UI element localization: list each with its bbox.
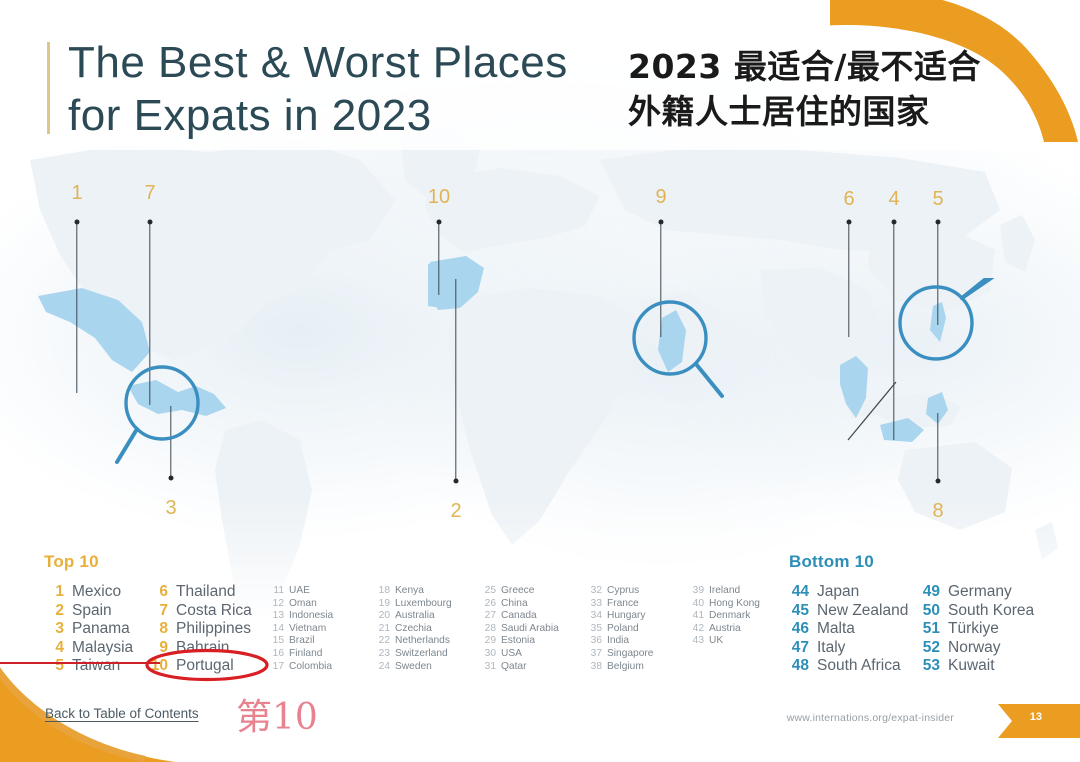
rank-column-18-24: 18Kenya19Luxembourg20Australia21Czechia2… (376, 585, 452, 673)
rank-country: Greece (501, 585, 534, 596)
rank-country: Finland (289, 648, 322, 659)
rank-row: 39Ireland (690, 585, 760, 598)
rank-number: 38 (588, 661, 602, 672)
rank-number: 33 (588, 598, 602, 609)
rank-row: 3Panama (44, 620, 133, 639)
top10-heading: Top 10 (44, 552, 99, 572)
map-marker-label: 2 (450, 500, 461, 523)
rank-number: 46 (789, 620, 809, 638)
map-marker-leader-line (660, 222, 661, 337)
rank-country: France (607, 598, 639, 609)
rank-country: Estonia (501, 635, 535, 646)
rank-number: 13 (270, 610, 284, 621)
map-marker-dot (847, 220, 852, 225)
rank-country: Indonesia (289, 610, 333, 621)
rank-country: Netherlands (395, 635, 450, 646)
rank-number: 18 (376, 585, 390, 596)
rank-country: Luxembourg (395, 598, 452, 609)
rank-number: 3 (44, 620, 64, 638)
map-marker-dot (437, 220, 442, 225)
rankings-lists: Top 10 Bottom 10 1Mexico2Spain3Panama4Ma… (0, 540, 1080, 700)
rank-number: 15 (270, 635, 284, 646)
rank-country: Costa Rica (176, 602, 252, 620)
rank-country: Australia (395, 610, 435, 621)
rank-country: Bahrain (176, 639, 229, 657)
rank-row: 35Poland (588, 623, 653, 636)
rank-row: 7Costa Rica (148, 602, 252, 621)
rank-country: Italy (817, 639, 845, 657)
rank-row: 15Brazil (270, 635, 333, 648)
rank-number: 27 (482, 610, 496, 621)
rank-country: Brazil (289, 635, 314, 646)
rank-number: 2 (44, 602, 64, 620)
rank-row: 26China (482, 598, 559, 611)
rank-row: 51Türkiye (920, 620, 1034, 639)
rank-number: 25 (482, 585, 496, 596)
rank-country: Germany (948, 583, 1012, 601)
rank-row: 5Taiwan (44, 657, 133, 676)
map-marker-leader-line (149, 222, 150, 405)
rank-row: 4Malaysia (44, 639, 133, 658)
rank-row: 45New Zealand (789, 602, 908, 621)
rank-row: 28Saudi Arabia (482, 623, 559, 636)
rank-row: 8Philippines (148, 620, 252, 639)
rank-country: Malta (817, 620, 855, 638)
slide-footer: Back to Table of Contents 第10 www.intern… (0, 692, 1080, 762)
rank-country: Mexico (72, 583, 121, 601)
rank-number: 22 (376, 635, 390, 646)
rank-number: 30 (482, 648, 496, 659)
rank-country: Sweden (395, 661, 432, 672)
rank-column-bottom10-a: 44Japan45New Zealand46Malta47Italy48Sout… (789, 583, 908, 676)
rank-row: 6Thailand (148, 583, 252, 602)
rank-number: 9 (148, 639, 168, 657)
map-marker-dot (148, 220, 153, 225)
rank-number: 11 (270, 585, 284, 596)
page-title-chinese: 2023 最适合/最不适合 外籍人士居住的国家 (628, 44, 981, 134)
rank-number: 26 (482, 598, 496, 609)
rank-number: 1 (44, 583, 64, 601)
rank-column-32-38: 32Cyprus33France34Hungary35Poland36India… (588, 585, 653, 673)
rank-number: 40 (690, 598, 704, 609)
rank-row: 40Hong Kong (690, 598, 760, 611)
map-marker-label: 6 (843, 188, 854, 211)
rank-number: 19 (376, 598, 390, 609)
rank-column-bottom10-b: 49Germany50South Korea51Türkiye52Norway5… (920, 583, 1034, 676)
rank-number: 52 (920, 639, 940, 657)
map-marker-dot (75, 220, 80, 225)
rank-country: Spain (72, 602, 112, 620)
rank-number: 6 (148, 583, 168, 601)
map-marker-label: 3 (165, 497, 176, 520)
rank-row: 46Malta (789, 620, 908, 639)
rank-number: 5 (44, 657, 64, 675)
map-marker-leader-line (76, 222, 77, 393)
rank-row: 12Oman (270, 598, 333, 611)
rank-country: Malaysia (72, 639, 133, 657)
rank-country: Qatar (501, 661, 526, 672)
rank-number: 20 (376, 610, 390, 621)
rank-row: 53Kuwait (920, 657, 1034, 676)
rank-country: Taiwan (72, 657, 120, 675)
map-marker-leader-line (893, 222, 894, 440)
rank-row: 2Spain (44, 602, 133, 621)
rank-country: Cyprus (607, 585, 639, 596)
map-marker-dot (454, 479, 459, 484)
rank-row: 31Qatar (482, 661, 559, 674)
map-marker-leader-line (848, 222, 849, 337)
rank-number: 42 (690, 623, 704, 634)
rank-country: Colombia (289, 661, 332, 672)
map-marker-label: 1 (71, 182, 82, 205)
rank-row: 32Cyprus (588, 585, 653, 598)
map-marker-dot (892, 220, 897, 225)
rank-row: 11UAE (270, 585, 333, 598)
rank-row: 47Italy (789, 639, 908, 658)
rank-number: 34 (588, 610, 602, 621)
rank-country: Türkiye (948, 620, 999, 638)
rank-number: 14 (270, 623, 284, 634)
rank-column-top10-b: 6Thailand7Costa Rica8Philippines9Bahrain… (148, 583, 252, 676)
rank-country: Belgium (607, 661, 644, 672)
rank-row: 50South Korea (920, 602, 1034, 621)
rank-country: South Africa (817, 657, 901, 675)
rank-number: 32 (588, 585, 602, 596)
rank-row: 48South Africa (789, 657, 908, 676)
rank-country: Portugal (176, 657, 234, 675)
rank-number: 45 (789, 602, 809, 620)
rank-row: 42Austria (690, 623, 760, 636)
rank-country: Vietnam (289, 623, 326, 634)
rank-row: 16Finland (270, 648, 333, 661)
map-marker-leader-line (937, 413, 938, 481)
map-marker-leader-line (455, 279, 456, 481)
rank-country: Czechia (395, 623, 432, 634)
rank-country: Saudi Arabia (501, 623, 559, 634)
rank-number: 24 (376, 661, 390, 672)
rank-row: 13Indonesia (270, 610, 333, 623)
rank-country: UK (709, 635, 723, 646)
map-marker-dot (169, 476, 174, 481)
rank-number: 39 (690, 585, 704, 596)
page-stamp-chinese: 第10 (236, 688, 318, 740)
rank-row: 9Bahrain (148, 639, 252, 658)
rank-number: 21 (376, 623, 390, 634)
rank-number: 7 (148, 602, 168, 620)
map-marker-dot (659, 220, 664, 225)
rank-row: 18Kenya (376, 585, 452, 598)
red-divider (0, 662, 160, 664)
rank-row: 30USA (482, 648, 559, 661)
rank-row: 1Mexico (44, 583, 133, 602)
rank-country: India (607, 635, 629, 646)
map-marker-label: 7 (144, 182, 155, 205)
rank-number: 4 (44, 639, 64, 657)
rank-row: 43UK (690, 635, 760, 648)
rank-row: 36India (588, 635, 653, 648)
rank-country: Switzerland (395, 648, 448, 659)
rank-row: 17Colombia (270, 661, 333, 674)
rank-country: UAE (289, 585, 310, 596)
rank-number: 28 (482, 623, 496, 634)
rank-row: 20Australia (376, 610, 452, 623)
rank-number: 8 (148, 620, 168, 638)
rank-number: 48 (789, 657, 809, 675)
map-marker-leader-line (438, 222, 439, 295)
title-accent-bar (47, 42, 50, 134)
rank-country: Austria (709, 623, 741, 634)
map-marker-label: 9 (655, 186, 666, 209)
rank-number: 17 (270, 661, 284, 672)
rank-country: Ireland (709, 585, 740, 596)
source-url: www.internations.org/expat-insider (787, 712, 954, 724)
rank-number: 44 (789, 583, 809, 601)
map-marker-label: 4 (888, 188, 899, 211)
rank-row: 52Norway (920, 639, 1034, 658)
rank-column-39-43: 39Ireland40Hong Kong41Denmark42Austria43… (690, 585, 760, 648)
rank-row: 24Sweden (376, 661, 452, 674)
rank-country: New Zealand (817, 602, 908, 620)
rank-row: 29Estonia (482, 635, 559, 648)
rank-column-25-31: 25Greece26China27Canada28Saudi Arabia29E… (482, 585, 559, 673)
slide-header: The Best & Worst Places for Expats in 20… (0, 0, 1080, 150)
rank-row: 34Hungary (588, 610, 653, 623)
rank-row: 21Czechia (376, 623, 452, 636)
page-number: 13 (1030, 711, 1042, 723)
rank-country: Japan (817, 583, 859, 601)
rank-country: Canada (501, 610, 537, 621)
rank-country: USA (501, 648, 522, 659)
rank-country: Kenya (395, 585, 424, 596)
map-marker-label: 8 (932, 500, 943, 523)
rank-country: Poland (607, 623, 639, 634)
bottom10-heading: Bottom 10 (789, 552, 874, 572)
map-marker-label: 10 (428, 186, 450, 209)
rank-row: 10Portugal (148, 657, 252, 676)
rank-row: 14Vietnam (270, 623, 333, 636)
rank-number: 50 (920, 602, 940, 620)
rank-row: 38Belgium (588, 661, 653, 674)
rank-country: Kuwait (948, 657, 995, 675)
rank-number: 23 (376, 648, 390, 659)
rank-number: 12 (270, 598, 284, 609)
rank-country: China (501, 598, 528, 609)
rank-number: 47 (789, 639, 809, 657)
rank-country: Singapore (607, 648, 653, 659)
rank-row: 44Japan (789, 583, 908, 602)
rank-number: 51 (920, 620, 940, 638)
rank-country: Panama (72, 620, 130, 638)
rank-country: Norway (948, 639, 1001, 657)
rank-number: 35 (588, 623, 602, 634)
rank-number: 16 (270, 648, 284, 659)
rank-country: Thailand (176, 583, 235, 601)
rank-number: 36 (588, 635, 602, 646)
rank-number: 37 (588, 648, 602, 659)
map-marker-leader-line (170, 406, 171, 478)
rank-number: 43 (690, 635, 704, 646)
rank-country: Philippines (176, 620, 251, 638)
rank-row: 49Germany (920, 583, 1034, 602)
rank-column-11-17: 11UAE12Oman13Indonesia14Vietnam15Brazil1… (270, 585, 333, 673)
rank-row: 37Singapore (588, 648, 653, 661)
rank-country: Hong Kong (709, 598, 760, 609)
rank-number: 10 (148, 657, 168, 675)
rank-row: 41Denmark (690, 610, 760, 623)
map-marker-dot (936, 220, 941, 225)
rank-row: 33France (588, 598, 653, 611)
rank-number: 53 (920, 657, 940, 675)
page-title: The Best & Worst Places for Expats in 20… (68, 36, 568, 142)
rank-country: Oman (289, 598, 317, 609)
rank-row: 27Canada (482, 610, 559, 623)
rank-number: 29 (482, 635, 496, 646)
map-marker-leader-line (937, 222, 938, 325)
rank-row: 19Luxembourg (376, 598, 452, 611)
rank-country: South Korea (948, 602, 1034, 620)
rank-number: 41 (690, 610, 704, 621)
rank-row: 23Switzerland (376, 648, 452, 661)
rank-number: 31 (482, 661, 496, 672)
back-to-table-of-contents-link[interactable]: Back to Table of Contents (45, 706, 199, 721)
rank-country: Denmark (709, 610, 750, 621)
map-marker-label: 5 (932, 188, 943, 211)
rank-row: 25Greece (482, 585, 559, 598)
rank-row: 22Netherlands (376, 635, 452, 648)
rank-number: 49 (920, 583, 940, 601)
slide-canvas: The Best & Worst Places for Expats in 20… (0, 0, 1080, 762)
map-marker-dot (936, 479, 941, 484)
rank-country: Hungary (607, 610, 646, 621)
